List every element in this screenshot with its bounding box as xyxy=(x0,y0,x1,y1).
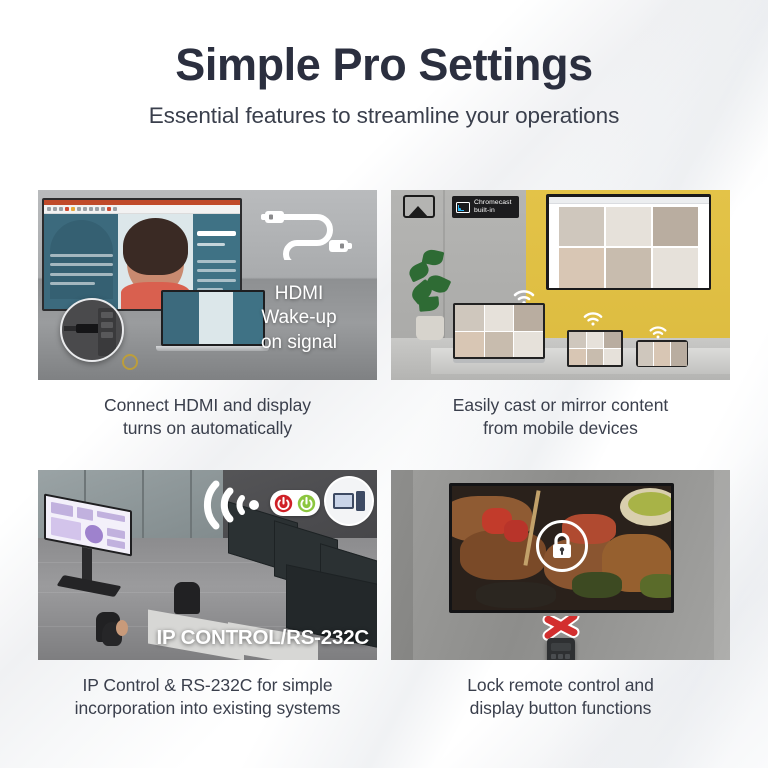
brand-heading xyxy=(197,231,237,236)
product-photo xyxy=(587,332,604,348)
toolbar-icon xyxy=(65,207,69,211)
potted-plant xyxy=(407,242,453,340)
display-screen xyxy=(549,197,709,288)
window-mullion xyxy=(142,470,144,548)
chart-widget xyxy=(97,511,125,522)
laptop-screen-content xyxy=(455,305,543,357)
product-photo xyxy=(606,248,651,288)
remote-key xyxy=(565,654,571,659)
slide-text-line xyxy=(197,260,237,263)
feature-card-ip-control[interactable]: IP CONTROL/RS-232C IP Control & RS-232C … xyxy=(38,470,377,728)
herbs xyxy=(572,572,622,598)
tablet-screen-content xyxy=(569,332,621,365)
overlay-line-1: HDMI xyxy=(229,282,369,306)
remote-key xyxy=(558,654,564,659)
pie-chart-widget xyxy=(85,523,103,544)
product-photo xyxy=(559,248,604,288)
product-photo xyxy=(514,305,543,331)
caption-line-2: turns on automatically xyxy=(38,417,377,440)
chromecast-icon xyxy=(456,202,470,213)
wall-pillar xyxy=(391,470,413,660)
feature-caption-lock-controls: Lock remote control and display button f… xyxy=(391,674,730,720)
product-photo xyxy=(671,342,687,366)
product-photo xyxy=(569,349,586,365)
remote-display-strip xyxy=(551,643,571,651)
slate-board xyxy=(476,582,556,608)
chart-widget xyxy=(107,539,125,549)
toolbar-icon xyxy=(113,207,117,211)
lock-badge xyxy=(536,520,588,572)
caption-line-2: from mobile devices xyxy=(391,417,730,440)
chart-widget xyxy=(107,528,125,539)
power-state-badge xyxy=(270,490,320,516)
toolbar-icon xyxy=(71,207,75,211)
page-subtitle: Essential features to streamline your op… xyxy=(0,103,768,129)
product-photo xyxy=(569,332,586,348)
slide-text-line xyxy=(50,282,95,285)
product-photo xyxy=(485,332,514,358)
phone-screen-content xyxy=(638,342,687,366)
caption-line-1: IP Control & RS-232C for simple xyxy=(38,674,377,697)
hdmi-port-zoom-inset xyxy=(60,298,124,362)
toolbar-icon xyxy=(107,207,111,211)
overlay-line-2: Wake-up xyxy=(229,306,369,330)
caption-line-2: incorporation into existing systems xyxy=(38,697,377,720)
zoom-marker-ring xyxy=(122,354,138,370)
feature-card-cast-mirror[interactable]: Chromecast built-in xyxy=(391,190,730,448)
herbs xyxy=(640,574,671,598)
app-toolbar xyxy=(44,205,240,214)
page-title: Simple Pro Settings xyxy=(0,40,768,90)
signal-waves-icon xyxy=(200,478,264,537)
toolbar-icon xyxy=(47,207,51,211)
window-mullion xyxy=(190,470,192,548)
office-chair xyxy=(174,582,200,614)
tablet-device xyxy=(567,330,623,367)
product-photo xyxy=(604,349,621,365)
feature-caption-hdmi-wake-up: Connect HDMI and display turns on automa… xyxy=(38,394,377,440)
io-label xyxy=(101,312,113,318)
person-head xyxy=(116,620,128,636)
remote-key xyxy=(551,654,557,659)
tablet-screen xyxy=(567,330,623,367)
wall-pillar xyxy=(714,470,730,660)
hdmi-cable-icon xyxy=(259,204,355,265)
remote-control-icon xyxy=(547,638,575,660)
padlock-icon xyxy=(550,532,574,560)
feature-caption-cast-mirror: Easily cast or mirror content from mobil… xyxy=(391,394,730,440)
tomato xyxy=(504,520,528,542)
feature-card-hdmi-wake-up[interactable]: HDMI Wake-up on signal Connect HDMI and … xyxy=(38,190,377,448)
chromecast-label-line2: built-in xyxy=(474,207,495,214)
plant-leaf xyxy=(418,296,439,312)
feature-caption-ip-control: IP Control & RS-232C for simple incorpor… xyxy=(38,674,377,720)
product-photo xyxy=(455,332,484,358)
io-label xyxy=(101,322,113,328)
wifi-cast-icon xyxy=(583,312,603,331)
smartphone-device xyxy=(636,340,688,367)
toolbar-icon xyxy=(59,207,63,211)
caption-line-1: Connect HDMI and display xyxy=(38,394,377,417)
io-label xyxy=(101,332,113,338)
monitor-glyph xyxy=(333,493,354,509)
toolbar-icon xyxy=(83,207,87,211)
product-photo xyxy=(587,349,604,365)
feature-image-cast-mirror: Chromecast built-in xyxy=(391,190,730,380)
pc-monitor-icon xyxy=(326,478,372,524)
brand-subheading xyxy=(197,243,225,246)
caption-line-1: Lock remote control and xyxy=(391,674,730,697)
product-photo xyxy=(606,207,651,247)
toolbar-icon xyxy=(77,207,81,211)
laptop-device xyxy=(453,303,545,363)
power-on-icon xyxy=(297,494,316,513)
feature-image-lock-controls xyxy=(391,470,730,660)
pc-tower-glyph xyxy=(356,491,365,511)
phone-screen xyxy=(636,340,688,367)
food-item xyxy=(460,530,546,580)
feature-image-ip-control: IP CONTROL/RS-232C xyxy=(38,470,377,660)
model-hair xyxy=(123,218,189,275)
chart-widget xyxy=(51,502,73,517)
product-photo xyxy=(653,207,698,247)
caption-line-1: Easily cast or mirror content xyxy=(391,394,730,417)
wall-display xyxy=(449,483,674,613)
olives xyxy=(628,492,671,516)
chromecast-label-line1: Chromecast xyxy=(474,199,512,206)
product-photo xyxy=(514,332,543,358)
product-photo-grid xyxy=(559,207,699,288)
plant-pot xyxy=(416,316,444,340)
ip-control-overlay-label: IP CONTROL/RS-232C xyxy=(157,626,369,650)
product-photo xyxy=(653,248,698,288)
chromecast-label: Chromecast built-in xyxy=(474,199,512,215)
overlay-line-3: on signal xyxy=(229,331,369,355)
product-photo xyxy=(455,305,484,331)
remote-keypad xyxy=(551,654,571,660)
slide-text-line xyxy=(50,263,113,266)
caption-line-2: display button functions xyxy=(391,697,730,720)
toolbar-icon xyxy=(53,207,57,211)
laptop-screen xyxy=(453,303,545,359)
toolbar-icon xyxy=(89,207,93,211)
slide-left-panel xyxy=(44,214,118,309)
display-stand xyxy=(82,547,92,583)
slide-text-line xyxy=(50,254,113,257)
product-photo xyxy=(604,332,621,348)
product-photo xyxy=(559,207,604,247)
product-photo xyxy=(638,342,654,366)
wall-display xyxy=(546,194,711,290)
feature-card-lock-controls[interactable]: Lock remote control and display button f… xyxy=(391,470,730,728)
laptop-base xyxy=(453,359,545,363)
feature-image-hdmi-wake-up: HDMI Wake-up on signal xyxy=(38,190,377,380)
page-header: Simple Pro Settings Essential features t… xyxy=(0,0,768,129)
chromecast-badge: Chromecast built-in xyxy=(452,196,519,218)
toolbar-icon xyxy=(101,207,105,211)
product-photo xyxy=(485,305,514,331)
chart-widget xyxy=(77,507,93,521)
chart-widget xyxy=(51,517,81,541)
slide-text-line xyxy=(50,273,113,276)
feature-grid: HDMI Wake-up on signal Connect HDMI and … xyxy=(38,190,730,746)
browser-chrome xyxy=(549,197,709,204)
product-photo xyxy=(654,342,670,366)
display-io-panel xyxy=(98,308,116,356)
airplay-triangle-icon xyxy=(407,206,429,218)
slide-arch-shape xyxy=(50,220,113,300)
food-menu-screen xyxy=(452,486,671,610)
hdmi-overlay-text: HDMI Wake-up on signal xyxy=(229,282,369,355)
toolbar-icon xyxy=(95,207,99,211)
slide-text-line xyxy=(197,269,237,272)
power-off-icon xyxy=(274,494,293,513)
